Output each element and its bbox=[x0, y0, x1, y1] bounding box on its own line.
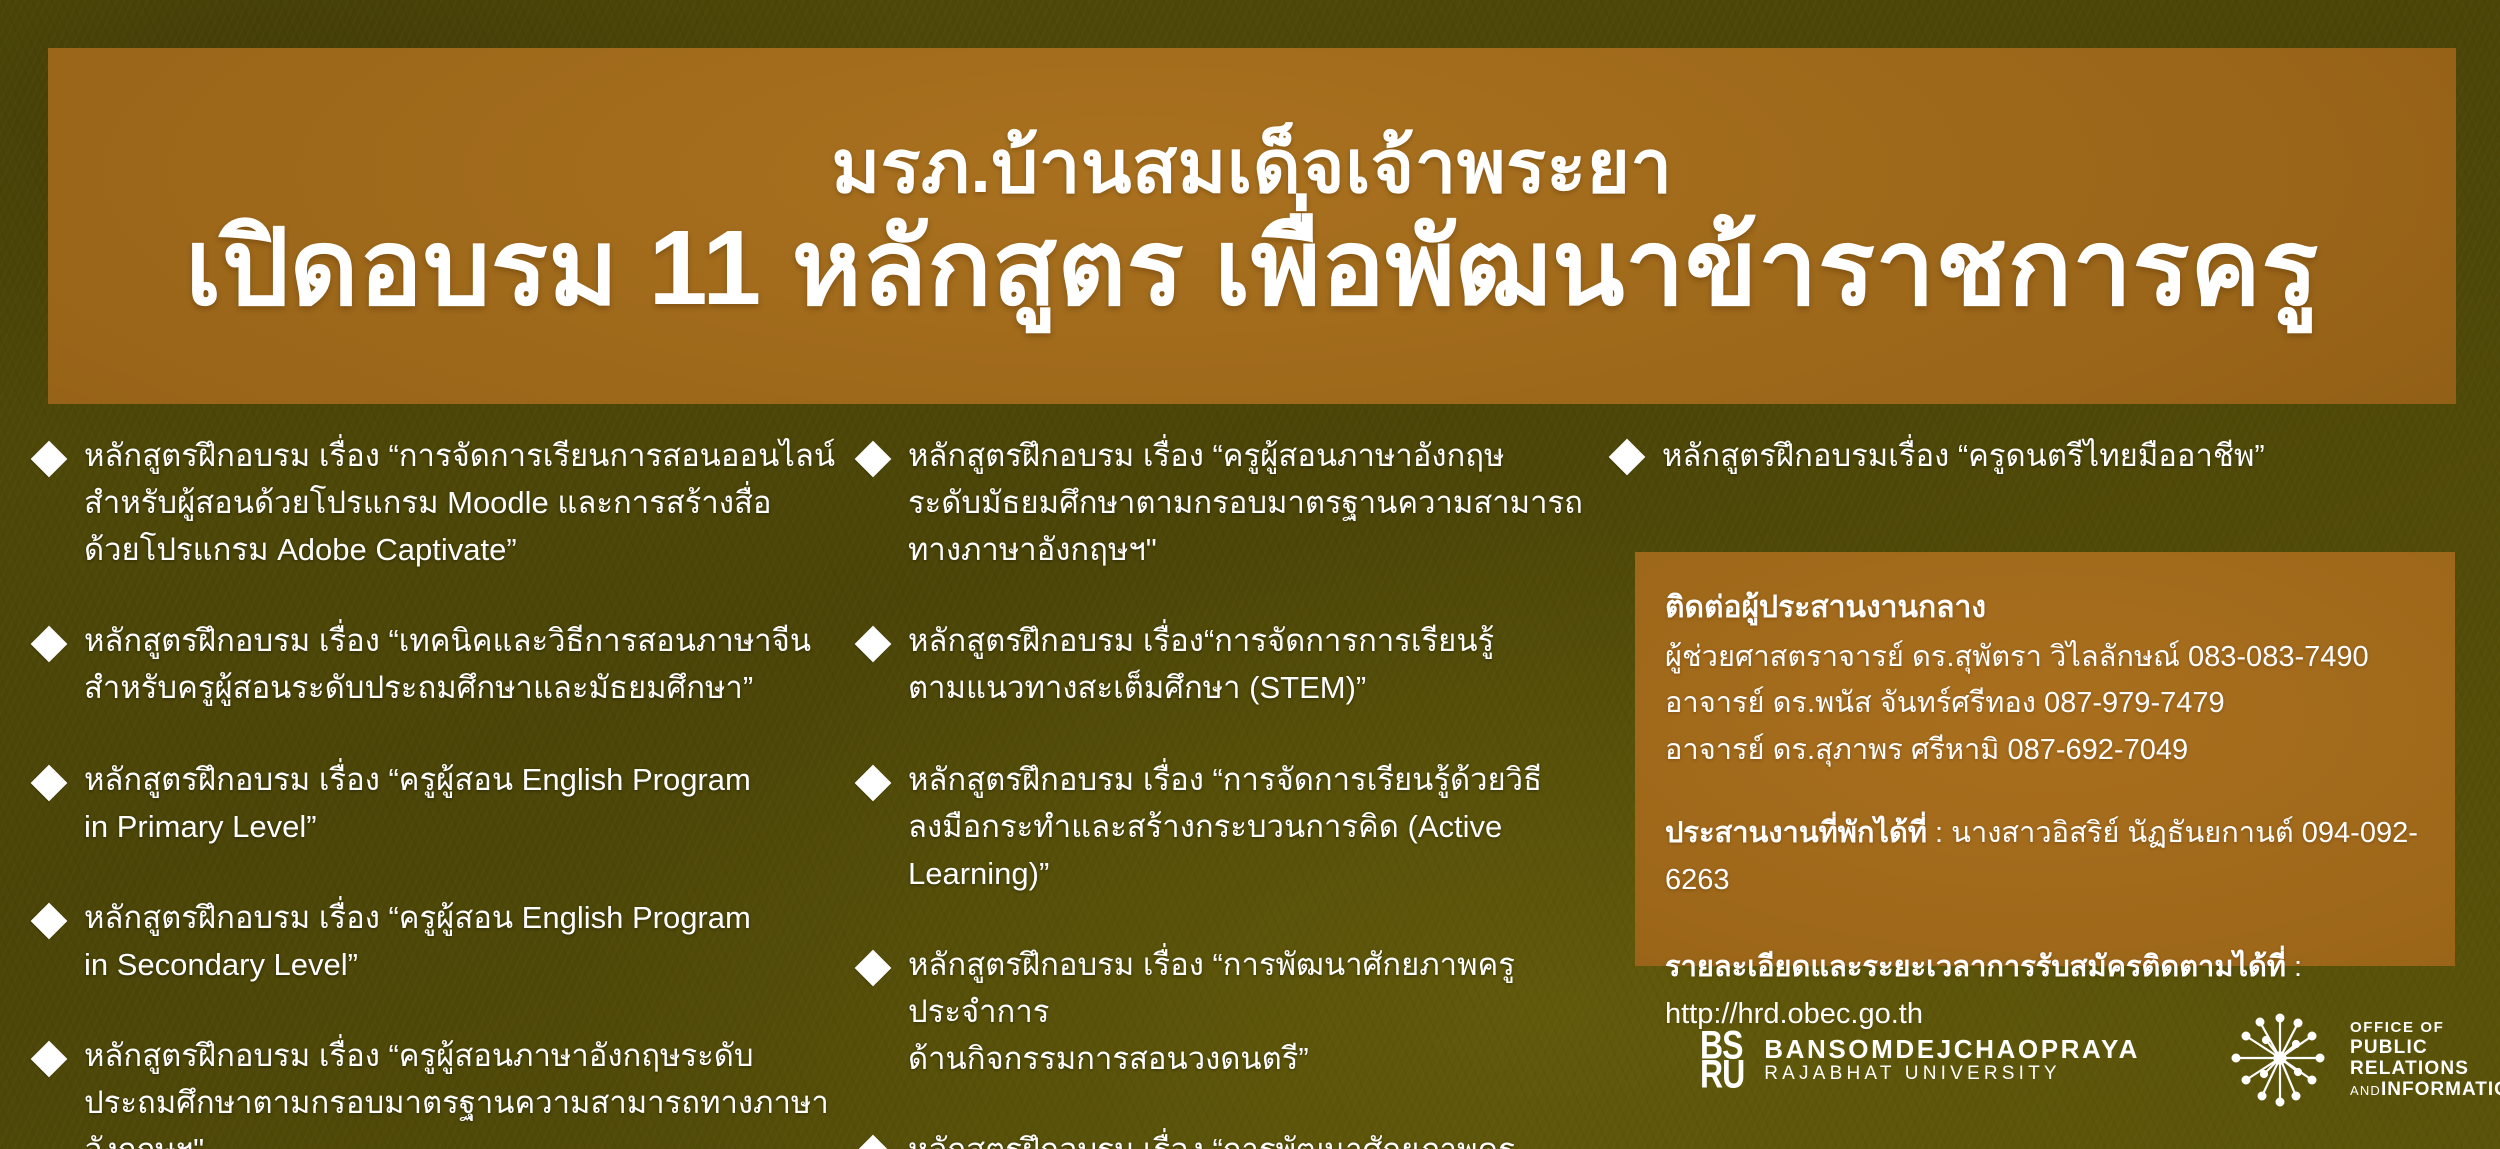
course-label: หลักสูตรฝึกอบรม เรื่อง “ครูผู้สอน Englis… bbox=[84, 756, 751, 850]
course-label: หลักสูตรฝึกอบรม เรื่อง “การจัดการเรียนกา… bbox=[84, 432, 835, 573]
pr-line2: PUBLIC RELATIONS bbox=[2350, 1037, 2500, 1080]
header-banner: มรภ.บ้านสมเด็จเจ้าพระยา เปิดอบรม 11 หลัก… bbox=[48, 48, 2456, 404]
accommodation-contact: ประสานงานที่พักได้ที่ : นางสาวอิสริย์ นั… bbox=[1665, 810, 2425, 904]
course-item: หลักสูตรฝึกอบรม เรื่อง “การพัฒนาศักยภาพค… bbox=[860, 941, 1590, 1082]
bsru-wordmark: BANSOMDEJCHAOPRAYA RAJABHAT UNIVERSITY bbox=[1764, 1035, 2140, 1085]
course-item: หลักสูตรฝึกอบรมเรื่อง “ครูดนตรีไทยมืออาช… bbox=[1614, 432, 2474, 479]
course-column-left: หลักสูตรฝึกอบรม เรื่อง “การจัดการเรียนกา… bbox=[36, 432, 866, 1149]
bsru-name: BANSOMDEJCHAOPRAYA bbox=[1764, 1035, 2140, 1063]
course-item: หลักสูตรฝึกอบรม เรื่อง “ครูผู้สอนภาษาอัง… bbox=[860, 432, 1590, 573]
footer-logos: BS RU BANSOMDEJCHAOPRAYA RAJABHAT UNIVER… bbox=[1700, 1000, 2480, 1120]
bsru-monogram-icon: BS RU bbox=[1700, 1031, 1744, 1090]
course-label: หลักสูตรฝึกอบรม เรื่อง “เทคนิคและวิธีการ… bbox=[84, 617, 811, 711]
pr-line3-main: INFORMATION bbox=[2381, 1079, 2500, 1100]
course-item: หลักสูตรฝึกอบรม เรื่อง “การพัฒนาศักยภาพค… bbox=[860, 1126, 1590, 1149]
contact-person: อาจารย์ ดร.พนัส จันทร์ศรีทอง 087-979-747… bbox=[1665, 680, 2425, 727]
contact-heading: ติดต่อผู้ประสานงานกลาง bbox=[1665, 586, 2425, 630]
diamond-bullet-icon bbox=[31, 902, 68, 939]
course-label: หลักสูตรฝึกอบรม เรื่อง “การพัฒนาศักยภาพค… bbox=[908, 1126, 1590, 1149]
course-label: หลักสูตรฝึกอบรม เรื่อง “การพัฒนาศักยภาพค… bbox=[908, 941, 1590, 1082]
diamond-bullet-icon bbox=[855, 626, 892, 663]
pr-wordmark: OFFICE OF PUBLIC RELATIONS ANDINFORMATIO… bbox=[2350, 1020, 2500, 1101]
header-title-line2: เปิดอบรม 11 หลักสูตร เพื่อพัฒนาข้าราชการ… bbox=[185, 212, 2319, 324]
diamond-bullet-icon bbox=[855, 764, 892, 801]
starburst-network-icon bbox=[2226, 1004, 2334, 1117]
course-item: หลักสูตรฝึกอบรม เรื่อง “ครูผู้สอน Englis… bbox=[36, 756, 866, 850]
contact-person: ผู้ช่วยศาสตราจารย์ ดร.สุพัตรา วิไลลักษณ์… bbox=[1665, 634, 2425, 681]
diamond-bullet-icon bbox=[31, 764, 68, 801]
course-item: หลักสูตรฝึกอบรม เรื่อง “การจัดการเรียนรู… bbox=[860, 756, 1590, 897]
diamond-bullet-icon bbox=[855, 949, 892, 986]
accommodation-label: ประสานงานที่พักได้ที่ bbox=[1665, 817, 1927, 849]
course-label: หลักสูตรฝึกอบรมเรื่อง “ครูดนตรีไทยมืออาช… bbox=[1662, 432, 2265, 479]
course-column-right: หลักสูตรฝึกอบรมเรื่อง “ครูดนตรีไทยมืออาช… bbox=[1614, 432, 2474, 509]
bsru-logo: BS RU BANSOMDEJCHAOPRAYA RAJABHAT UNIVER… bbox=[1700, 1031, 2140, 1090]
course-item: หลักสูตรฝึกอบรม เรื่อง “ครูผู้สอน Englis… bbox=[36, 894, 866, 988]
course-label: หลักสูตรฝึกอบรม เรื่อง “ครูผู้สอนภาษาอัง… bbox=[84, 1032, 866, 1149]
diamond-bullet-icon bbox=[31, 626, 68, 663]
course-item: หลักสูตรฝึกอบรม เรื่อง “เทคนิคและวิธีการ… bbox=[36, 617, 866, 711]
diamond-bullet-icon bbox=[855, 441, 892, 478]
header-title-line1: มรภ.บ้านสมเด็จเจ้าพระยา bbox=[831, 128, 1672, 206]
diamond-bullet-icon bbox=[855, 1135, 892, 1149]
bsru-monogram-line2: RU bbox=[1700, 1056, 1744, 1093]
contact-panel: ติดต่อผู้ประสานงานกลาง ผู้ช่วยศาสตราจารย… bbox=[1635, 552, 2455, 966]
course-column-middle: หลักสูตรฝึกอบรม เรื่อง “ครูผู้สอนภาษาอัง… bbox=[860, 432, 1590, 1149]
pr-line1: OFFICE OF bbox=[2350, 1020, 2500, 1037]
course-label: หลักสูตรฝึกอบรม เรื่อง “ครูผู้สอนภาษาอัง… bbox=[908, 432, 1583, 573]
contact-person: อาจารย์ ดร.สุภาพร ศรีหามิ 087-692-7049 bbox=[1665, 727, 2425, 774]
diamond-bullet-icon bbox=[1609, 439, 1646, 476]
bsru-subname: RAJABHAT UNIVERSITY bbox=[1764, 1063, 2140, 1085]
course-item: หลักสูตรฝึกอบรม เรื่อง “ครูผู้สอนภาษาอัง… bbox=[36, 1032, 866, 1149]
course-label: หลักสูตรฝึกอบรม เรื่อง“การจัดการการเรียน… bbox=[908, 617, 1494, 711]
diamond-bullet-icon bbox=[31, 441, 68, 478]
course-item: หลักสูตรฝึกอบรม เรื่อง “การจัดการเรียนกา… bbox=[36, 432, 866, 573]
public-relations-logo: OFFICE OF PUBLIC RELATIONS ANDINFORMATIO… bbox=[2226, 1004, 2500, 1117]
course-label: หลักสูตรฝึกอบรม เรื่อง “ครูผู้สอน Englis… bbox=[84, 894, 751, 988]
poster-root: มรภ.บ้านสมเด็จเจ้าพระยา เปิดอบรม 11 หลัก… bbox=[0, 0, 2500, 1149]
diamond-bullet-icon bbox=[31, 1041, 68, 1078]
course-label: หลักสูตรฝึกอบรม เรื่อง “การจัดการเรียนรู… bbox=[908, 756, 1590, 897]
pr-line3: ANDINFORMATION bbox=[2350, 1079, 2500, 1100]
pr-line3-prefix: AND bbox=[2350, 1083, 2381, 1098]
details-label: รายละเอียดและระยะเวลาการรับสมัครติดตามได… bbox=[1665, 951, 2286, 983]
course-item: หลักสูตรฝึกอบรม เรื่อง“การจัดการการเรียน… bbox=[860, 617, 1590, 711]
